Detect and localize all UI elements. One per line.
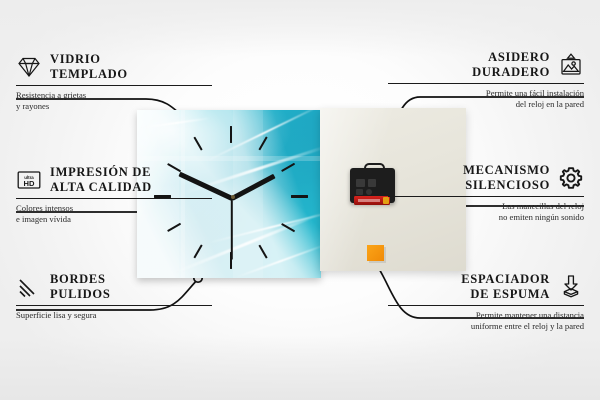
feature-desc-line2: y rayones bbox=[16, 101, 212, 112]
tick-11 bbox=[193, 136, 203, 150]
feature-vidrio-templado: VIDRIO TEMPLADO Resistencia a grietas y … bbox=[16, 52, 212, 111]
feature-divider bbox=[388, 83, 584, 85]
feature-title-line2: TEMPLADO bbox=[50, 67, 128, 82]
feature-desc-line2: e imagen vívida bbox=[16, 214, 212, 225]
feature-desc-line1: Permite mantener una distancia bbox=[388, 310, 584, 321]
feature-espaciador-de-espuma: ESPACIADOR DE ESPUMA Permite mantener un… bbox=[388, 272, 584, 331]
tick-7 bbox=[193, 244, 203, 258]
feature-divider bbox=[388, 305, 584, 307]
feature-desc-line1: Resistencia a grietas bbox=[16, 90, 212, 101]
feature-desc-line1: Colores intensos bbox=[16, 203, 212, 214]
feature-asidero-duradero: ASIDERO DURADERO Permite una fácil insta… bbox=[388, 50, 584, 109]
feature-desc-line1: Las manecillas del reloj bbox=[388, 201, 584, 212]
feature-divider bbox=[388, 196, 584, 198]
feature-divider bbox=[16, 85, 212, 87]
second-hand bbox=[231, 198, 233, 260]
feature-impresion-alta-calidad: ultra HD IMPRESIÓN DE ALTA CALIDAD Color… bbox=[16, 165, 212, 224]
feature-title-line1: ASIDERO bbox=[472, 50, 550, 65]
feature-bordes-pulidos: BORDES PULIDOS Superficie lisa y segura bbox=[16, 272, 212, 321]
feature-desc-line2: uniforme entre el reloj y la pared bbox=[388, 321, 584, 332]
feature-title-line2: PULIDOS bbox=[50, 287, 110, 302]
feature-title-line2: DURADERO bbox=[472, 65, 550, 80]
feature-title-line1: ESPACIADOR bbox=[461, 272, 550, 287]
feature-title-line2: DE ESPUMA bbox=[461, 287, 550, 302]
feature-divider bbox=[16, 305, 212, 307]
ultra-hd-icon: ultra HD bbox=[16, 167, 42, 193]
feature-divider bbox=[16, 198, 212, 200]
feature-mecanismo-silencioso: MECANISMO SILENCIOSO Las manecillas del … bbox=[388, 163, 584, 222]
feature-title-line2: SILENCIOSO bbox=[463, 178, 550, 193]
feature-title-line1: IMPRESIÓN DE bbox=[50, 165, 152, 180]
infographic-canvas: VIDRIO TEMPLADO Resistencia a grietas y … bbox=[0, 0, 600, 400]
feature-desc-line2: del reloj en la pared bbox=[388, 99, 584, 110]
clock-hub bbox=[231, 195, 235, 199]
foam-spacer bbox=[367, 245, 384, 261]
tick-3 bbox=[291, 195, 308, 198]
feature-title-line1: BORDES bbox=[50, 272, 110, 287]
polished-edges-icon bbox=[16, 274, 42, 300]
feature-desc-line1: Permite una fácil instalación bbox=[388, 88, 584, 99]
feature-title-line2: ALTA CALIDAD bbox=[50, 180, 152, 195]
svg-text:HD: HD bbox=[24, 179, 35, 188]
battery bbox=[354, 196, 390, 205]
diamond-icon bbox=[16, 54, 42, 80]
tick-2 bbox=[281, 163, 295, 173]
feature-title-line1: MECANISMO bbox=[463, 163, 550, 178]
gear-icon bbox=[558, 165, 584, 191]
foam-spacer-arrow-icon bbox=[558, 274, 584, 300]
feature-desc-line2: no emiten ningún sonido bbox=[388, 212, 584, 223]
hanging-picture-icon bbox=[558, 52, 584, 78]
feature-title-line1: VIDRIO bbox=[50, 52, 128, 67]
feature-desc-line1: Superficie lisa y segura bbox=[16, 310, 212, 321]
